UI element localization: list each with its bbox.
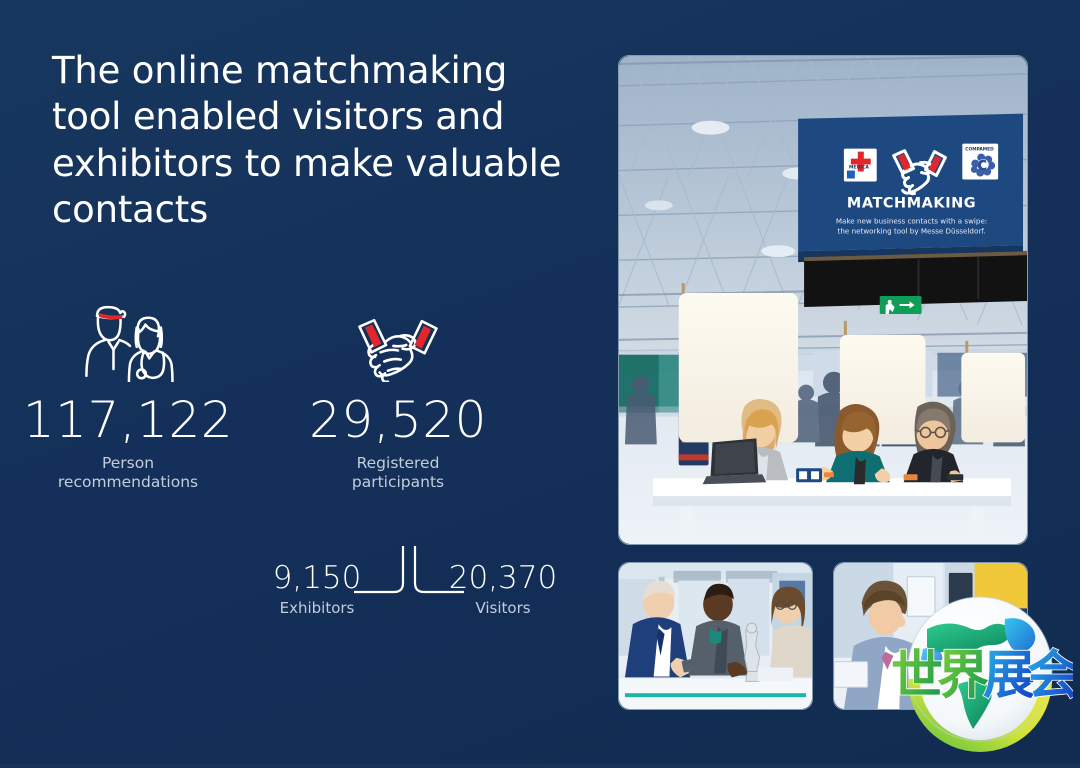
stat-participants-label: Registered participants	[292, 454, 504, 493]
visitor-workstation-photo	[833, 562, 1028, 710]
exhibition-booth-demo-photo	[618, 562, 813, 710]
banner-tagline-line2: the networking tool by Messe Düsseldorf.	[838, 226, 986, 235]
slide-canvas: The online matchmaking tool enabled visi…	[0, 0, 1080, 764]
stat-person-label: Person recommendations	[22, 454, 234, 493]
stat-participants-label-line1: Registered	[357, 454, 440, 472]
stat-person-recommendations: 117,122 Person recommendations	[22, 300, 234, 492]
stat-visitors: 20,370 Visitors	[444, 562, 562, 617]
stat-visitors-value: 20,370	[444, 562, 562, 595]
stat-participants-label-line2: participants	[352, 473, 444, 491]
page-title: The online matchmaking tool enabled visi…	[52, 48, 572, 233]
stat-registered-participants: 29,520 Registered participants	[292, 300, 504, 492]
svg-text:会: 会	[1027, 646, 1073, 706]
stat-person-label-line1: Person	[102, 454, 154, 472]
banner-title: MATCHMAKING	[847, 195, 976, 211]
banner-tagline-line1: Make new business contacts with a swipe:	[836, 216, 987, 225]
matchmaking-booth-photo: MEDICA CO	[618, 55, 1028, 545]
stat-exhibitors-visitors-pair: 9,150 Exhibitors 20,370 Visitors	[258, 556, 558, 636]
stat-person-label-line2: recommendations	[58, 473, 198, 491]
svg-text:MEDICA: MEDICA	[849, 165, 869, 171]
stat-participants-value: 29,520	[292, 394, 504, 447]
handshake-icon	[292, 300, 504, 382]
stat-person-value: 117,122	[22, 394, 234, 447]
stat-visitors-label: Visitors	[444, 599, 562, 617]
two-healthcare-professionals-icon	[22, 300, 234, 382]
svg-text:COMPAMED: COMPAMED	[965, 147, 994, 153]
